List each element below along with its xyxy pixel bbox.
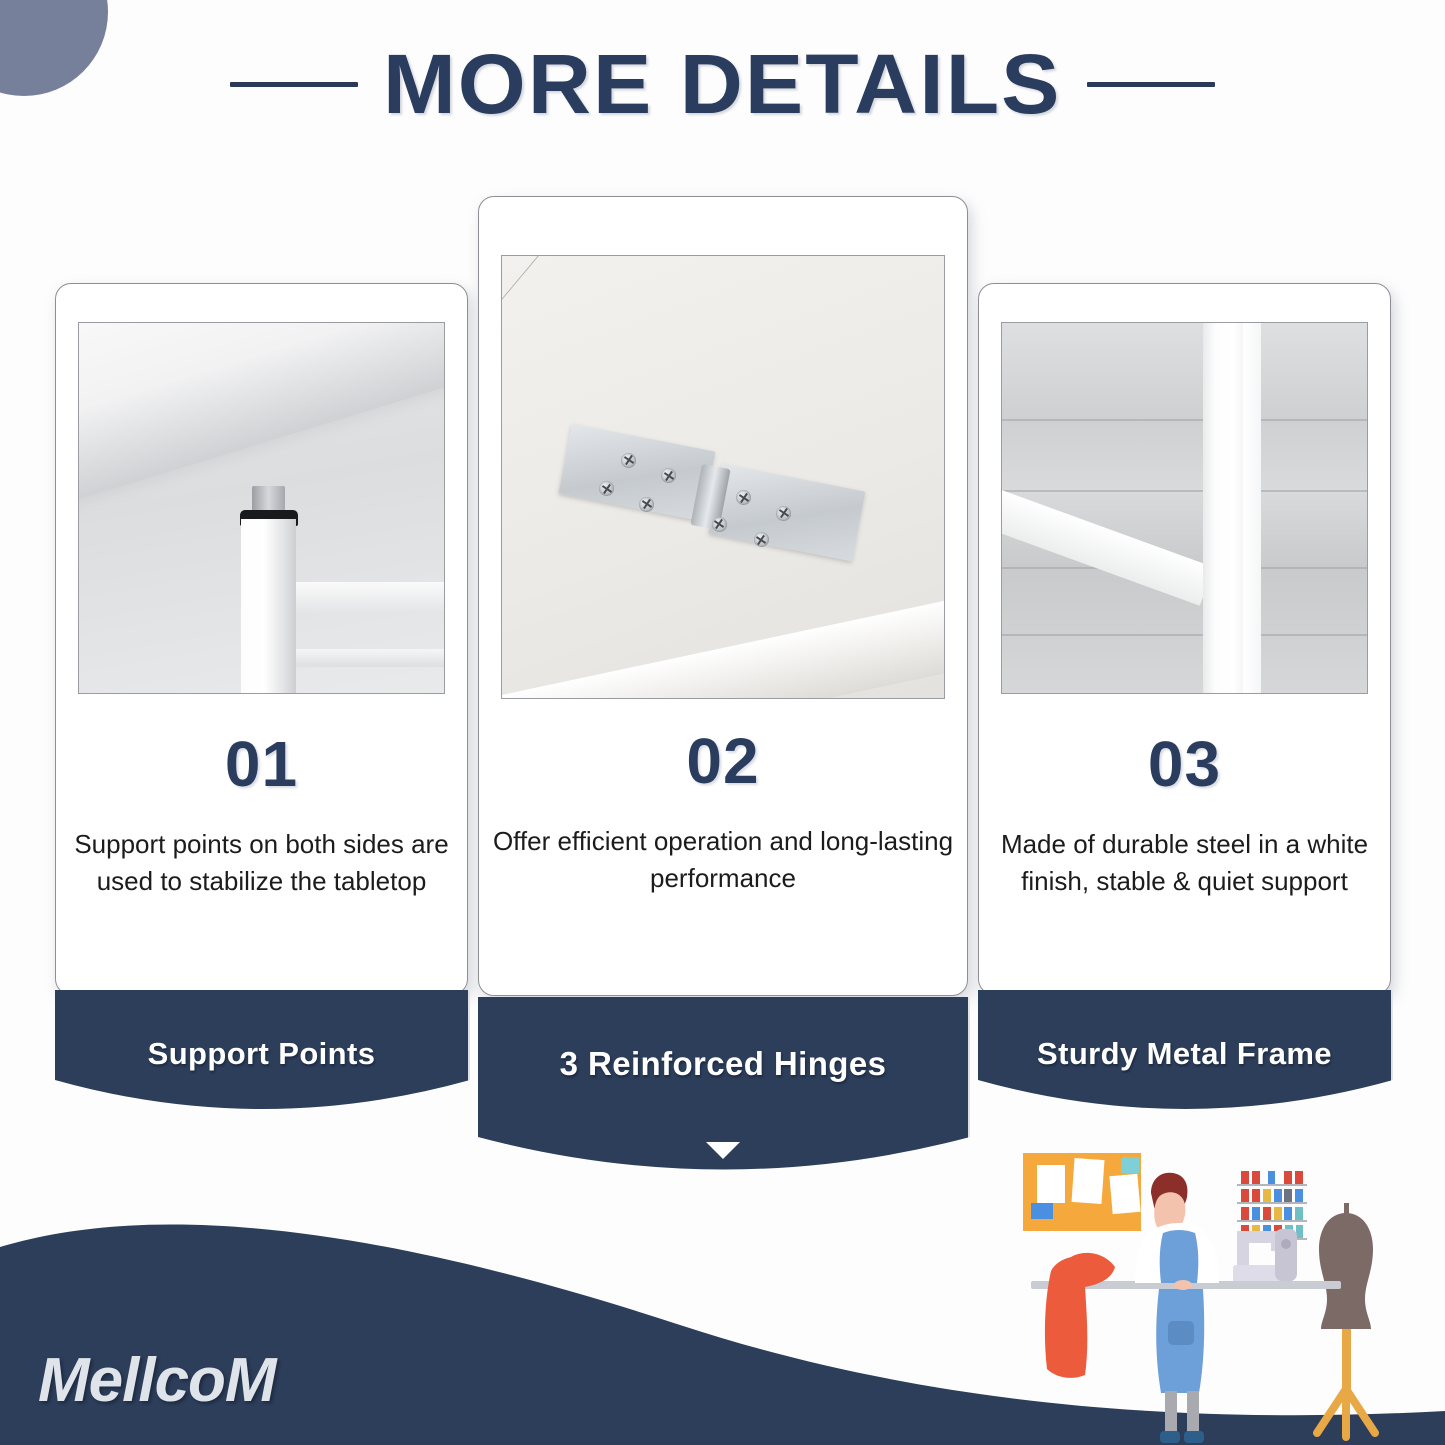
support-point-photo (78, 322, 445, 694)
card-banner-1: Support Points (55, 990, 468, 1125)
chevron-down-icon[interactable] (706, 1142, 740, 1159)
card-description-3: Made of durable steel in a white finish,… (987, 826, 1382, 901)
card-number-2: 02 (479, 729, 967, 793)
feature-card-2[interactable]: 02 Offer efficient operation and long-la… (478, 196, 968, 996)
card-banner-label-3: Sturdy Metal Frame (978, 1036, 1391, 1072)
infographic-page: MORE DETAILS 01 Support points on both s… (0, 0, 1445, 1445)
card-banner-label-2: 3 Reinforced Hinges (478, 1045, 968, 1083)
seamstress-figure (1135, 1173, 1219, 1443)
metal-frame-photo (1001, 322, 1368, 694)
card-banner-label-1: Support Points (55, 1036, 468, 1072)
pinboard-icon (1023, 1153, 1141, 1231)
card-number-3: 03 (979, 732, 1390, 796)
card-banner-3: Sturdy Metal Frame (978, 990, 1391, 1125)
feature-card-1[interactable]: 01 Support points on both sides are used… (55, 283, 468, 995)
hinge-photo (501, 255, 945, 699)
sewing-machine-icon (1233, 1229, 1297, 1287)
feature-card-list: 01 Support points on both sides are used… (0, 0, 1445, 1200)
card-description-1: Support points on both sides are used to… (64, 826, 459, 901)
card-description-2: Offer efficient operation and long-lasti… (487, 823, 959, 898)
red-fabric-icon (1045, 1253, 1115, 1378)
thread-spool-rack-icon (1237, 1171, 1307, 1239)
card-number-1: 01 (56, 732, 467, 796)
seamstress-illustration (965, 1145, 1445, 1445)
feature-card-3[interactable]: 03 Made of durable steel in a white fini… (978, 283, 1391, 995)
card-banner-2: 3 Reinforced Hinges (478, 997, 968, 1187)
dress-form-icon (1317, 1203, 1375, 1437)
brand-logo: MellcoM (38, 1350, 276, 1412)
